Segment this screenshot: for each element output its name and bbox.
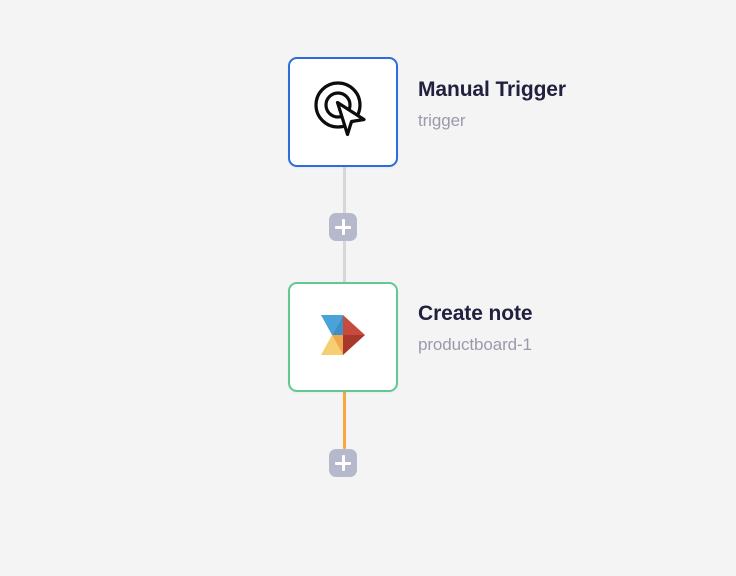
add-node-after-trigger-button[interactable] [329, 213, 357, 241]
node-title: Manual Trigger [418, 78, 566, 102]
plus-icon-vertical-bar [342, 219, 345, 235]
node-subtitle: productboard-1 [418, 335, 532, 355]
node-label-create-note: Create note productboard-1 [418, 302, 532, 355]
plus-icon-vertical-bar [342, 455, 345, 471]
workflow-canvas: Manual Trigger trigger Create note produ… [0, 0, 736, 576]
node-label-manual-trigger: Manual Trigger trigger [418, 78, 566, 131]
cursor-target-icon [307, 74, 379, 151]
node-create-note[interactable] [288, 282, 398, 392]
node-subtitle: trigger [418, 111, 566, 131]
productboard-logo-icon [319, 313, 367, 362]
add-node-after-action-button[interactable] [329, 449, 357, 477]
connector-action-to-next [343, 391, 346, 449]
node-manual-trigger[interactable] [288, 57, 398, 167]
node-title: Create note [418, 302, 532, 326]
